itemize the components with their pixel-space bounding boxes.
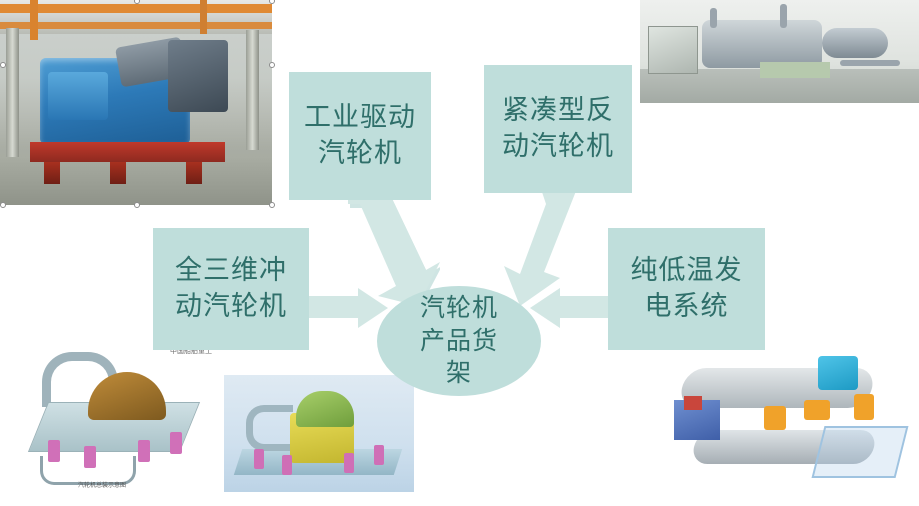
arrow-impulse-to-center: [300, 288, 390, 338]
chiller-orange-valve: [804, 400, 830, 420]
node-compact-reaction-turbine[interactable]: 紧凑型反 动汽轮机: [484, 65, 632, 193]
cad2-green-casing: [296, 391, 354, 427]
photo-cad-assembly-center: [224, 375, 414, 492]
node-compact-line2: 动汽轮机: [502, 129, 614, 165]
factory-floor: [0, 157, 272, 205]
chiller-orange-valve: [854, 394, 874, 420]
photo-skid-turbine: [640, 0, 919, 103]
factory-pillar-left: [6, 28, 19, 178]
factory-crane-beam-lower: [0, 22, 272, 29]
photo-cad-assembly-left: 中国船舶重工 汽轮机总装示意图: [18, 336, 223, 492]
node-3d-impulse-turbine[interactable]: 全三维冲 动汽轮机: [153, 228, 309, 350]
skid-pipe: [780, 4, 787, 28]
cad-sub-caption: 汽轮机总装示意图: [78, 480, 126, 489]
factory-crane-post-right: [200, 0, 207, 34]
selection-handle[interactable]: [0, 202, 6, 208]
factory-crane-beam: [0, 4, 272, 13]
cad-support: [138, 440, 150, 462]
selection-handle[interactable]: [0, 62, 6, 68]
turbine-end-cover: [168, 40, 228, 112]
chiller-cyan-module: [818, 356, 858, 390]
factory-pillar-right: [246, 30, 259, 150]
turbine-base-leg: [186, 162, 202, 184]
selection-handle[interactable]: [269, 0, 275, 4]
photo-lowtemp-unit: [668, 334, 919, 492]
node-impulse-line2: 动汽轮机: [175, 289, 287, 325]
arrow-lowtemp-to-center: [530, 288, 618, 338]
skid-condenser: [822, 28, 888, 58]
node-low-temperature-power-system[interactable]: 纯低温发 电系统: [608, 228, 765, 350]
turbine-red-base: [30, 142, 225, 162]
selection-handle[interactable]: [269, 202, 275, 208]
skid-pipe: [710, 8, 717, 28]
node-compact-line1: 紧凑型反: [502, 93, 614, 129]
turbine-base-leg: [110, 162, 126, 184]
node-lowtemp-line2: 电系统: [631, 289, 743, 325]
factory-crane-post-left: [30, 0, 38, 40]
cad-support: [170, 432, 182, 454]
selection-handle[interactable]: [269, 62, 275, 68]
node-center-product-shelf[interactable]: 汽轮机 产品货 架: [377, 286, 541, 396]
cad2-support: [344, 453, 354, 473]
chiller-red-part: [684, 396, 702, 410]
node-industrial-drive-turbine[interactable]: 工业驱动 汽轮机: [289, 72, 431, 200]
node-lowtemp-line1: 纯低温发: [631, 253, 743, 289]
node-center-line2: 产品货: [420, 325, 498, 358]
node-center-line3: 架: [420, 357, 498, 390]
cad2-support: [254, 449, 264, 469]
chiller-frame: [812, 426, 909, 478]
cad2-inlet-pipe: [246, 405, 293, 451]
selection-handle[interactable]: [134, 202, 140, 208]
photo-factory-turbine: [0, 0, 272, 205]
turbine-base-leg: [44, 162, 60, 184]
node-industrial-line1: 工业驱动: [304, 100, 416, 136]
node-center-line1: 汽轮机: [420, 292, 498, 325]
skid-green-panel: [760, 62, 830, 78]
chiller-orange-valve: [764, 406, 786, 430]
node-impulse-line1: 全三维冲: [175, 253, 287, 289]
cad2-support: [282, 455, 292, 475]
slide-canvas: 中国船舶重工 汽轮机总装示意图: [0, 0, 919, 506]
skid-pipe: [840, 60, 900, 66]
skid-turbine-body: [702, 20, 822, 68]
skid-gearbox: [648, 26, 698, 74]
node-industrial-line2: 汽轮机: [304, 136, 416, 172]
cad2-support: [374, 445, 384, 465]
